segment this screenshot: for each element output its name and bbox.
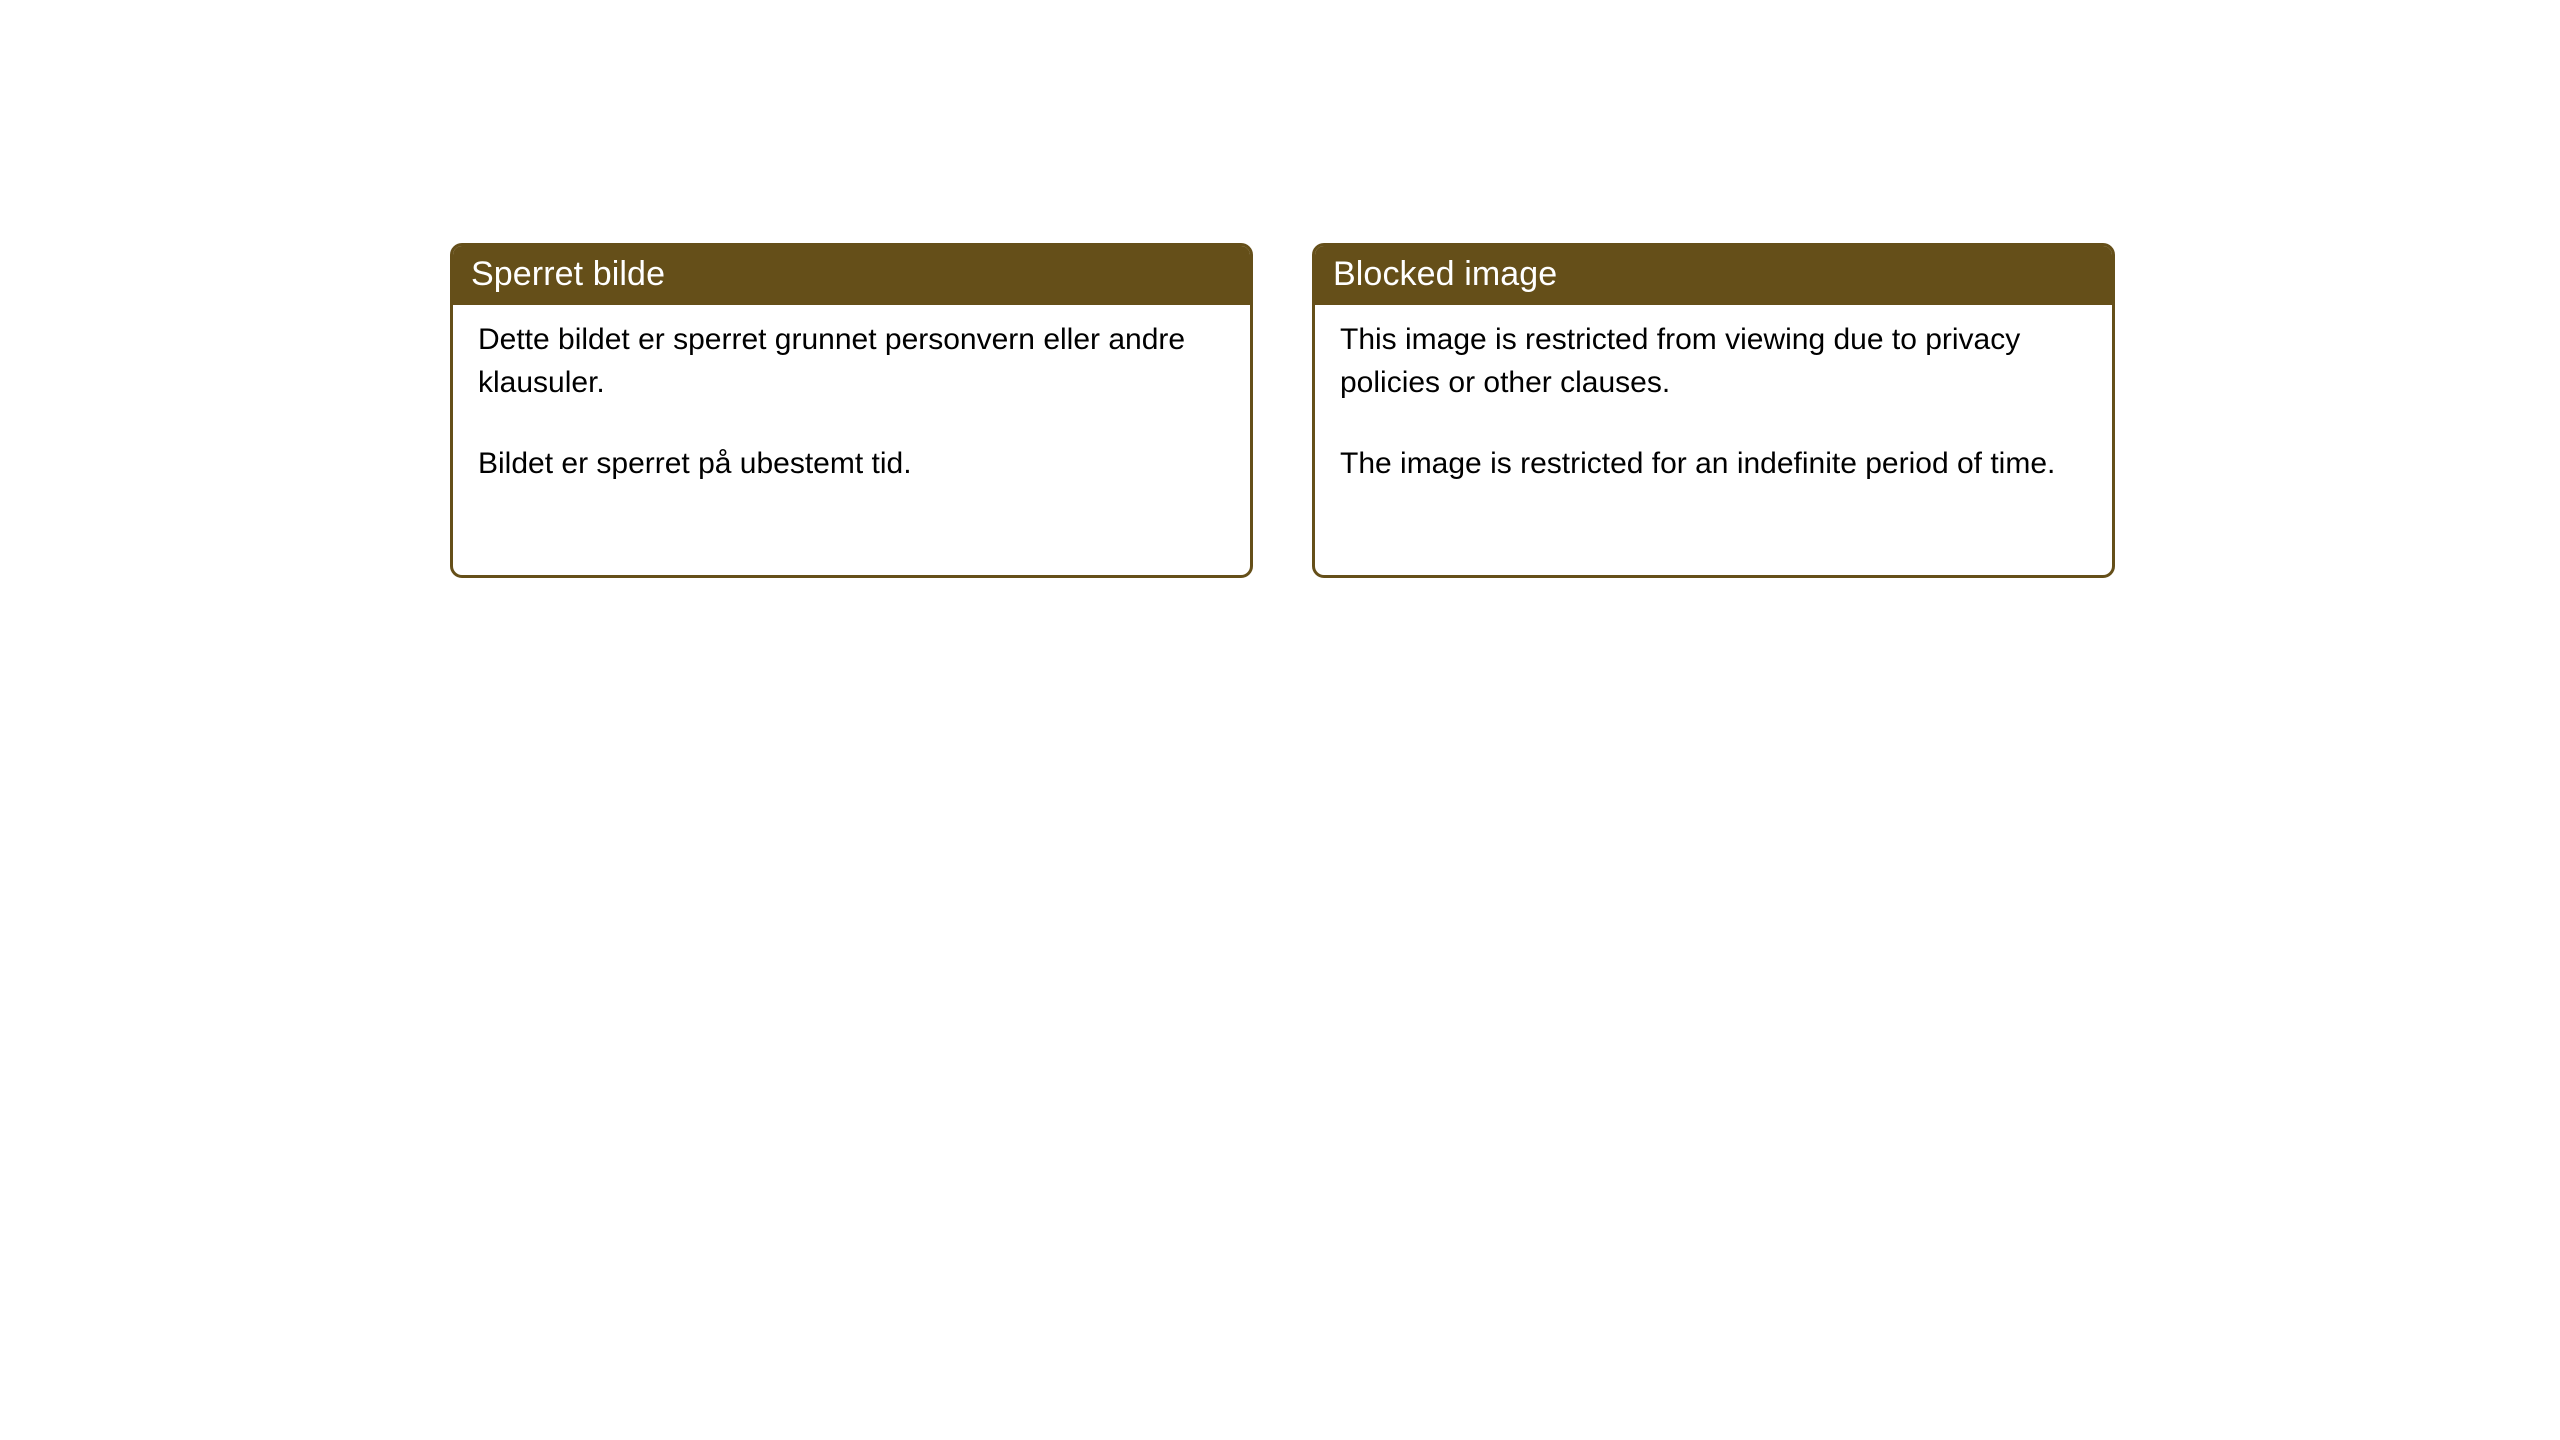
card-paragraph-duration-english: The image is restricted for an indefinit… [1340,442,2080,485]
blocked-image-notice-english: Blocked image This image is restricted f… [1312,243,2115,578]
page-canvas: Sperret bilde Dette bildet er sperret gr… [0,0,2560,1440]
card-paragraph-duration-norwegian: Bildet er sperret på ubestemt tid. [478,442,1218,485]
card-body-norwegian: Dette bildet er sperret grunnet personve… [453,305,1250,575]
card-title-english: Blocked image [1333,257,1557,291]
card-body-english: This image is restricted from viewing du… [1315,305,2112,575]
card-header-norwegian: Sperret bilde [450,243,1253,305]
card-title-norwegian: Sperret bilde [471,257,665,291]
card-paragraph-privacy-norwegian: Dette bildet er sperret grunnet personve… [478,318,1218,404]
card-header-english: Blocked image [1312,243,2115,305]
card-paragraph-privacy-english: This image is restricted from viewing du… [1340,318,2080,404]
blocked-image-notice-norwegian: Sperret bilde Dette bildet er sperret gr… [450,243,1253,578]
